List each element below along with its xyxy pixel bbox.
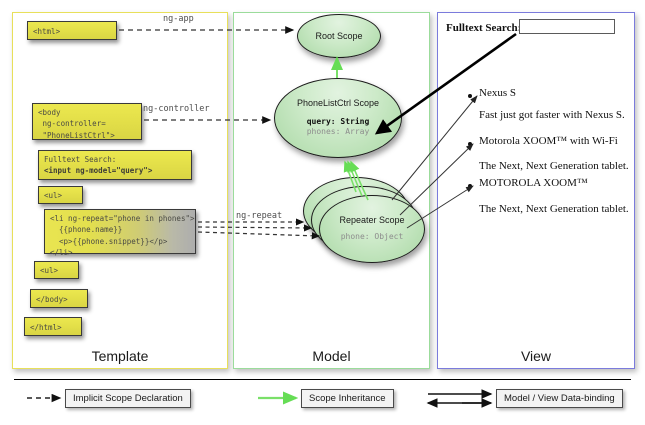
arrow-label-ng-app: ng-app <box>163 14 194 24</box>
search-markup-line1: Fulltext Search: <box>44 155 116 164</box>
li-line3: <p>{{phone.snippet}}</p> <box>50 237 167 246</box>
search-markup-line2: <input ng-model="query"> <box>44 166 152 175</box>
view-item-snippet: The Next, Next Generation tablet. <box>479 203 629 215</box>
scope-field-phone: phone: Object <box>341 232 404 242</box>
column-label-template: Template <box>13 348 227 364</box>
arrow-label-ng-repeat: ng-repeat <box>236 211 282 221</box>
legend-item-implicit-scope-declaration: Implicit Scope Declaration <box>65 389 191 408</box>
template-box-ul-open: <ul> <box>38 186 83 204</box>
view-search-label: Fulltext Search: <box>446 22 521 34</box>
template-box-html-close: </html> <box>24 317 82 336</box>
legend-item-scope-inheritance: Scope Inheritance <box>301 389 394 408</box>
view-list-bullet <box>468 94 472 98</box>
scope-field-query: query: String <box>307 117 370 127</box>
scope-phonelistctrl: PhoneListCtrl Scope query: String phones… <box>274 78 402 158</box>
view-list-bullet <box>468 184 472 188</box>
scope-root-title: Root Scope <box>315 31 362 42</box>
view-item-name: Nexus S <box>479 87 516 99</box>
li-line4: </li> <box>50 248 73 257</box>
scope-root: Root Scope <box>297 14 381 58</box>
arrow-label-ng-controller: ng-controller <box>143 104 210 114</box>
view-item-name: Motorola XOOM™ with Wi-Fi <box>479 135 618 147</box>
li-line1: <li ng-repeat="phone in phones"> <box>50 214 195 223</box>
li-line2: {{phone.name}} <box>50 225 122 234</box>
column-label-model: Model <box>234 348 429 364</box>
scope-repeater-title: Repeater Scope <box>339 215 404 226</box>
scope-field-phones: phones: Array <box>307 127 370 137</box>
column-label-view: View <box>438 348 634 364</box>
view-item-name: MOTOROLA XOOM™ <box>479 177 588 189</box>
scope-repeater-front: Repeater Scope phone: Object <box>319 195 425 263</box>
column-view: View <box>437 12 635 369</box>
scope-phonelistctrl-title: PhoneListCtrl Scope <box>297 98 379 109</box>
legend-item-model-view-data-binding: Model / View Data-binding <box>496 389 623 408</box>
template-box-html-open: <html> <box>27 21 117 40</box>
template-box-body-open: <body ng-controller= "PhoneListCtrl"> <box>32 103 142 140</box>
view-list-bullet <box>468 142 472 146</box>
view-item-snippet: Fast just got faster with Nexus S. <box>479 109 625 121</box>
view-item-snippet: The Next, Next Generation tablet. <box>479 160 629 172</box>
diagram-canvas: Template Model View <html> <body ng-cont… <box>0 0 645 425</box>
legend-divider <box>14 379 631 380</box>
template-box-li-repeat: <li ng-repeat="phone in phones"> {{phone… <box>44 209 196 254</box>
template-box-search-markup: Fulltext Search: <input ng-model="query"… <box>38 150 192 180</box>
legend-arrow-databinding <box>428 394 491 403</box>
view-search-input[interactable] <box>519 19 615 34</box>
template-box-ul-close: <ul> <box>34 261 79 279</box>
template-box-body-close: </body> <box>30 289 88 308</box>
